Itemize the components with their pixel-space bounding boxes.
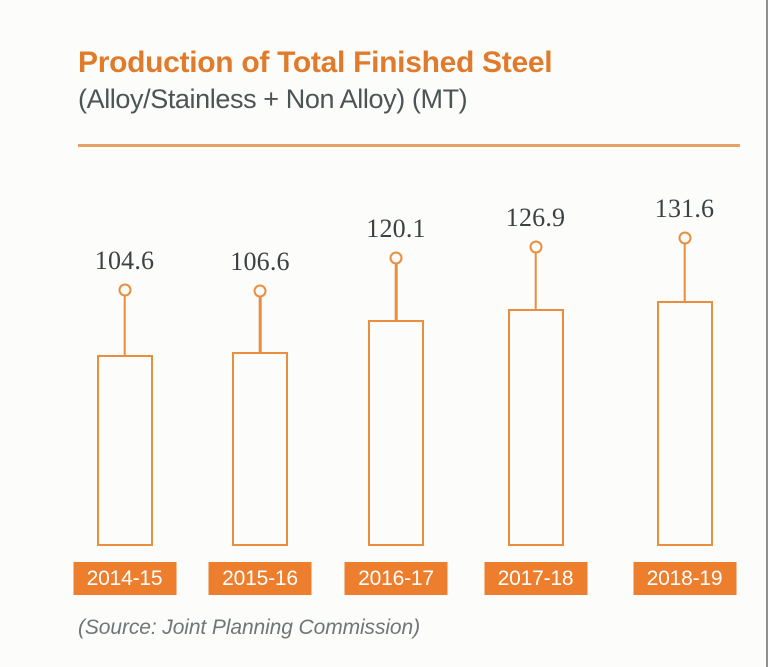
bar-value-label: 126.9 xyxy=(506,203,566,233)
plot-area: 104.62014-15106.62015-16120.12016-17126.… xyxy=(0,0,768,667)
bar-marker-icon xyxy=(678,232,691,245)
category-label-2014-15: 2014-15 xyxy=(73,562,176,595)
category-label-2017-18: 2017-18 xyxy=(484,562,587,595)
bar-marker-icon xyxy=(118,284,131,297)
bar-stem xyxy=(534,247,537,309)
bar-marker-icon xyxy=(390,252,403,265)
category-label-2018-19: 2018-19 xyxy=(633,562,736,595)
bar[interactable] xyxy=(97,355,153,546)
bar-value-label: 104.6 xyxy=(95,246,155,276)
bar-stem xyxy=(683,238,686,301)
bar[interactable] xyxy=(368,320,424,546)
bar-marker-icon xyxy=(254,285,267,298)
bar-stem xyxy=(123,290,126,355)
bar-value-label: 131.6 xyxy=(655,194,715,224)
category-label-2016-17: 2016-17 xyxy=(345,562,448,595)
bar[interactable] xyxy=(657,301,713,546)
bar[interactable] xyxy=(508,309,564,546)
category-label-2015-16: 2015-16 xyxy=(209,562,312,595)
bar-stem xyxy=(259,291,262,352)
bar-marker-icon xyxy=(529,241,542,254)
bar-stem xyxy=(395,258,398,320)
bar-value-label: 106.6 xyxy=(230,247,290,277)
bar-value-label: 120.1 xyxy=(366,214,426,244)
bar[interactable] xyxy=(232,352,288,546)
chart-page: Production of Total Finished Steel (Allo… xyxy=(0,0,768,667)
source-note: (Source: Joint Planning Commission) xyxy=(78,616,420,640)
